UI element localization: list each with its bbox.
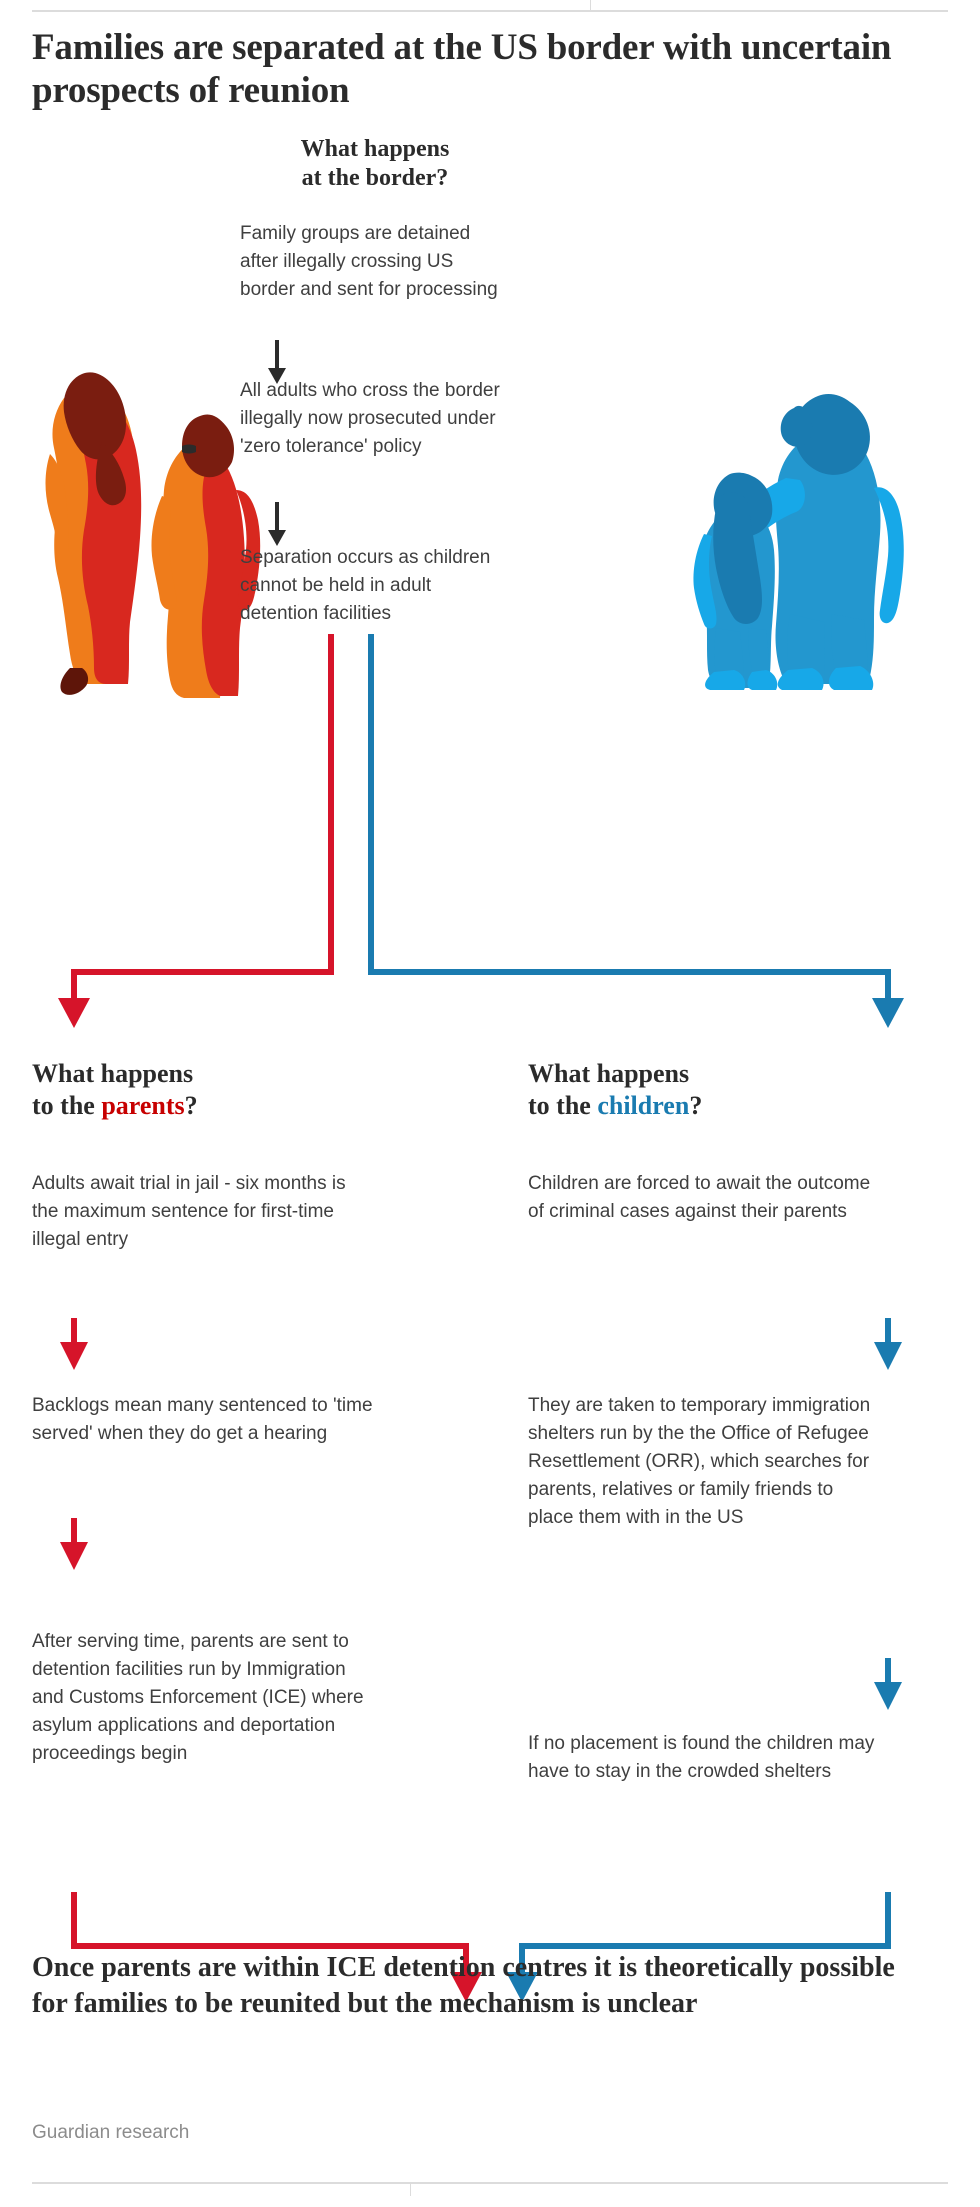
red-split-arrowhead — [58, 998, 90, 1028]
children-section-heading: What happens to the children? — [528, 1058, 858, 1122]
parent-woman-figure — [46, 372, 142, 694]
page-title: Families are separated at the US border … — [32, 26, 932, 113]
children-heading-suffix: ? — [689, 1091, 702, 1120]
center-section-heading: What happens at the border? — [240, 135, 510, 194]
children-step-1: Children are forced to await the outcome… — [528, 1170, 883, 1226]
children-heading-prefix-2: to the — [528, 1091, 597, 1120]
parents-step-1: Adults await trial in jail - six months … — [32, 1170, 377, 1254]
parents-heading-suffix: ? — [185, 1091, 198, 1120]
center-heading-line-1: What happens — [301, 136, 450, 162]
children-step-2: They are taken to temporary immigration … — [528, 1392, 883, 1533]
infographic-root: Families are separated at the US border … — [0, 0, 980, 2207]
bottom-divider-tick — [410, 2182, 411, 2196]
top-divider — [32, 10, 948, 12]
center-step-3: Separation occurs as children cannot be … — [240, 544, 502, 628]
center-step-2: All adults who cross the border illegall… — [240, 377, 502, 461]
bottom-divider — [32, 2182, 948, 2184]
top-divider-tick — [590, 0, 591, 12]
children-silhouette-illustration — [690, 392, 958, 690]
down-arrow-icon-2 — [266, 502, 288, 546]
center-step-1: Family groups are detained after illegal… — [240, 220, 502, 304]
source-credit: Guardian research — [32, 2122, 189, 2144]
child-figure — [693, 473, 777, 690]
blue-split-arrowhead — [872, 998, 904, 1028]
parents-heading-prefix-2: to the — [32, 1091, 101, 1120]
parents-step-2: Backlogs mean many sentenced to 'time se… — [32, 1392, 377, 1448]
parents-step-3: After serving time, parents are sent to … — [32, 1628, 377, 1769]
center-heading-line-2: at the border? — [302, 165, 449, 191]
parents-section-heading: What happens to the parents? — [32, 1058, 362, 1122]
children-heading-line-1: What happens — [528, 1059, 689, 1088]
children-step-3: If no placement is found the children ma… — [528, 1730, 883, 1786]
parents-heading-line-1: What happens — [32, 1059, 193, 1088]
children-heading-accent: children — [597, 1091, 689, 1120]
conclusion-text: Once parents are within ICE detention ce… — [32, 1950, 932, 2021]
parents-heading-accent: parents — [101, 1091, 184, 1120]
